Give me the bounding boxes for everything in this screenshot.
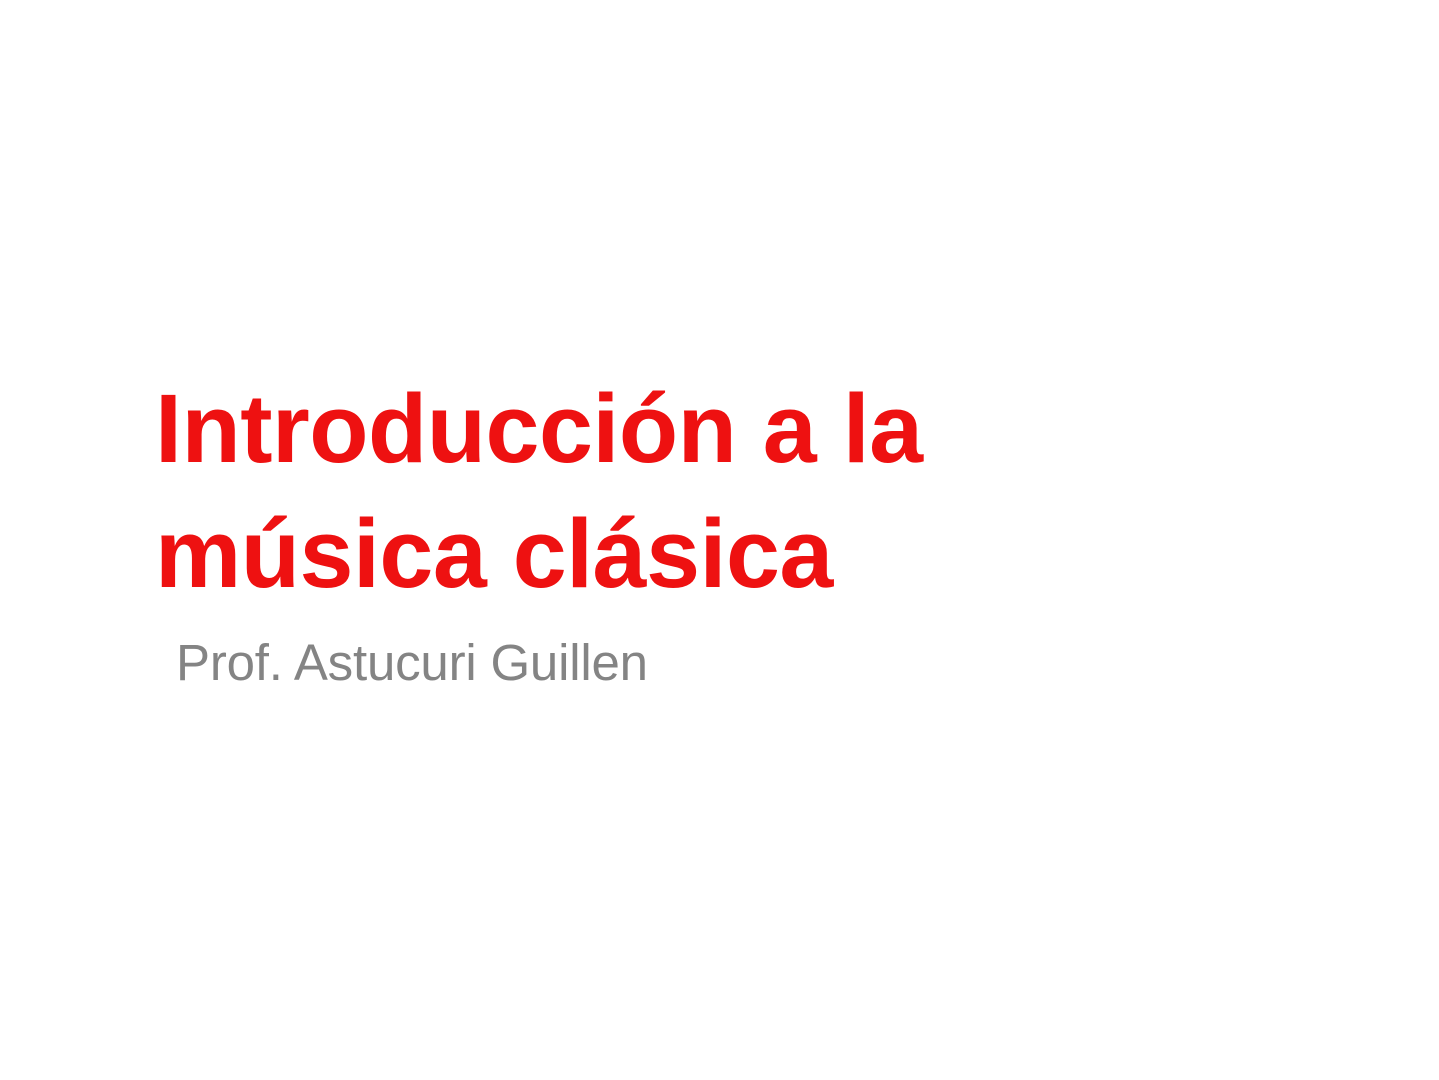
presentation-slide: Introducción a la música clásica Prof. A… [0,0,1439,1080]
slide-subtitle: Prof. Astucuri Guillen [176,632,1076,694]
title-placeholder: Introducción a la música clásica [155,366,1155,616]
page-title: Introducción a la música clásica [155,366,1155,616]
subtitle-placeholder: Prof. Astucuri Guillen [176,632,1076,694]
